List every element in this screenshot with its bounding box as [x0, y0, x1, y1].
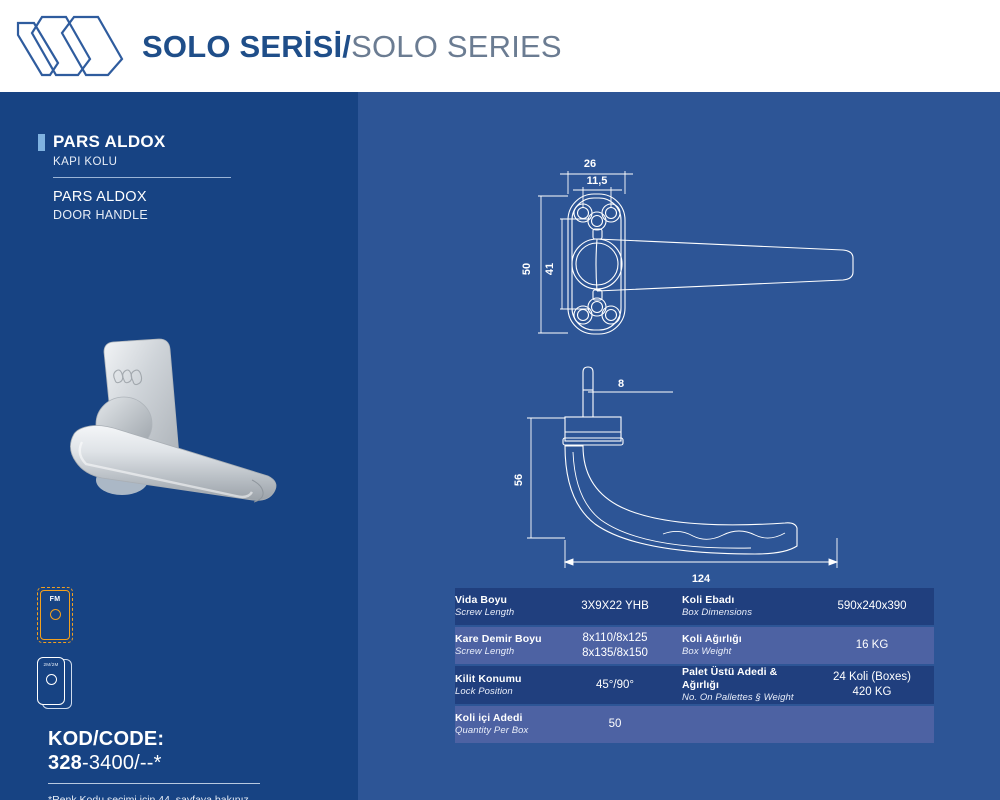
- table-row: Kilit Konumu Lock Position 45°/90° Palet…: [455, 665, 934, 705]
- spec-label2-en: Box Weight: [682, 646, 810, 658]
- spec-value-cell-2: 24 Koli (Boxes) 420 KG: [810, 665, 934, 705]
- product-name-block: PARS ALDOX KAPI KOLU PARS ALDOX DOOR HAN…: [38, 132, 318, 222]
- spec-value-line: 50: [548, 717, 682, 732]
- spec-label-tr: Kilit Konumu: [455, 673, 548, 686]
- 2m-badge-dot-icon: [46, 674, 57, 685]
- spec-value2-line: 24 Koli (Boxes): [810, 670, 934, 685]
- code-label: KOD/CODE:: [48, 728, 303, 751]
- spec-label-en: Lock Position: [455, 686, 548, 698]
- table-row: Koli içi Adedi Quantity Per Box 50: [455, 705, 934, 743]
- product-type-tr: KAPI KOLU: [53, 156, 318, 168]
- product-name-row: PARS ALDOX: [38, 132, 318, 152]
- fm-badge-dot-icon: [50, 609, 61, 620]
- spec-label-tr: Kare Demir Boyu: [455, 633, 548, 646]
- fm-badge: FM: [37, 587, 73, 643]
- name-divider: [53, 177, 231, 178]
- badge-group: FM 2M/2M: [37, 587, 73, 723]
- spec-value-cell: 8x110/8x125 8x135/8x150: [548, 626, 682, 665]
- dim-11-5: 11,5: [587, 175, 608, 187]
- code-prefix: 328: [48, 752, 82, 774]
- spec-value2-line: 590x240x390: [810, 599, 934, 614]
- spec-label-en: Screw Length: [455, 607, 548, 619]
- spec-value-cell-2: 16 KG: [810, 626, 934, 665]
- top-view-technical-drawing: 26 11,5 50 41: [498, 147, 918, 362]
- dim-41: 41: [544, 263, 556, 275]
- spec-label-en: Screw Length: [455, 646, 548, 658]
- 2m-badge-front-plate: 2M/2M: [37, 657, 65, 705]
- table-row: Vida Boyu Screw Length 3X9X22 YHB Koli E…: [455, 588, 934, 626]
- dim-124: 124: [692, 573, 711, 585]
- spec-label2-tr: Koli Ebadı: [682, 594, 810, 607]
- page-title-tr: SOLO SERİSİ/: [142, 29, 351, 64]
- product-name-tr: PARS ALDOX: [53, 132, 166, 152]
- spec-value-cell: 3X9X22 YHB: [548, 588, 682, 626]
- spec-label-cell: Kilit Konumu Lock Position: [455, 665, 548, 705]
- spec-value-cell: 50: [548, 705, 682, 743]
- 2m-badge-shape: 2M/2M: [37, 657, 71, 709]
- spec-label-cell-2: Koli Ağırlığı Box Weight: [682, 626, 810, 665]
- code-suffix: -3400/--*: [82, 752, 162, 774]
- accent-bar: [38, 134, 45, 151]
- spec-label-cell: Kare Demir Boyu Screw Length: [455, 626, 548, 665]
- side-view-technical-drawing: 8 56 124: [513, 362, 933, 592]
- spec-label-tr: Vida Boyu: [455, 594, 548, 607]
- spec-value-line: 3X9X22 YHB: [548, 599, 682, 614]
- fm-badge-label: FM: [50, 596, 61, 603]
- spec-label2-tr: Palet Üstü Adedi & Ağırlığı: [682, 666, 810, 692]
- dim-56: 56: [513, 474, 525, 486]
- dim-8: 8: [618, 378, 624, 390]
- spec-value-line: 45°/90°: [548, 678, 682, 693]
- page-header: SOLO SERİSİ/SOLO SERIES: [0, 0, 1000, 92]
- code-value: 328-3400/--*: [48, 752, 303, 775]
- page-title-en: SOLO SERIES: [351, 29, 562, 64]
- spec-label2-en: Box Dimensions: [682, 607, 810, 619]
- 2m-badge: 2M/2M: [37, 657, 73, 709]
- dim-50: 50: [521, 263, 533, 275]
- specification-table: Vida Boyu Screw Length 3X9X22 YHB Koli E…: [455, 588, 934, 743]
- product-type-en: DOOR HANDLE: [53, 208, 318, 222]
- footnote-tr: *Renk Kodu seçimi için 44. sayfaya bakın…: [48, 793, 303, 800]
- main-panel: 26 11,5 50 41: [358, 92, 1000, 800]
- 2m-badge-label: 2M/2M: [43, 662, 58, 667]
- spec-label-cell-2: Koli Ebadı Box Dimensions: [682, 588, 810, 626]
- catalog-page: SOLO SERİSİ/SOLO SERIES PARS ALDOX KAPI …: [0, 0, 1000, 800]
- spec-empty-cell: [682, 705, 810, 743]
- spec-label-cell: Koli içi Adedi Quantity Per Box: [455, 705, 548, 743]
- spec-value2-line: 16 KG: [810, 638, 934, 653]
- sidebar-panel: PARS ALDOX KAPI KOLU PARS ALDOX DOOR HAN…: [0, 92, 358, 800]
- spec-label-en: Quantity Per Box: [455, 725, 548, 737]
- company-w-logo: [12, 13, 132, 79]
- product-photo: [52, 330, 314, 530]
- footnote-group: *Renk Kodu seçimi için 44. sayfaya bakın…: [48, 793, 303, 800]
- page-title: SOLO SERİSİ/SOLO SERIES: [142, 31, 562, 62]
- spec-value-cell-2: 590x240x390: [810, 588, 934, 626]
- fm-badge-inner: FM: [40, 590, 70, 640]
- spec-label-cell: Vida Boyu Screw Length: [455, 588, 548, 626]
- spec-value-line-2: 8x135/8x150: [548, 646, 682, 661]
- spec-label-tr: Koli içi Adedi: [455, 712, 548, 725]
- dim-26: 26: [584, 158, 596, 170]
- product-name-en: PARS ALDOX: [53, 189, 318, 205]
- spec-label-cell-2: Palet Üstü Adedi & Ağırlığı No. On Palle…: [682, 665, 810, 705]
- fm-badge-outline: FM: [37, 587, 73, 643]
- spec-value-line: 8x110/8x125: [548, 631, 682, 646]
- spec-label2-tr: Koli Ağırlığı: [682, 633, 810, 646]
- spec-value2-line-2: 420 KG: [810, 685, 934, 700]
- table-row: Kare Demir Boyu Screw Length 8x110/8x125…: [455, 626, 934, 665]
- code-divider: [48, 783, 260, 784]
- spec-label2-en: No. On Pallettes § Weight: [682, 692, 810, 704]
- spec-value-cell: 45°/90°: [548, 665, 682, 705]
- spec-empty-cell-2: [810, 705, 934, 743]
- product-code-block: KOD/CODE: 328-3400/--* *Renk Kodu seçimi…: [48, 728, 303, 800]
